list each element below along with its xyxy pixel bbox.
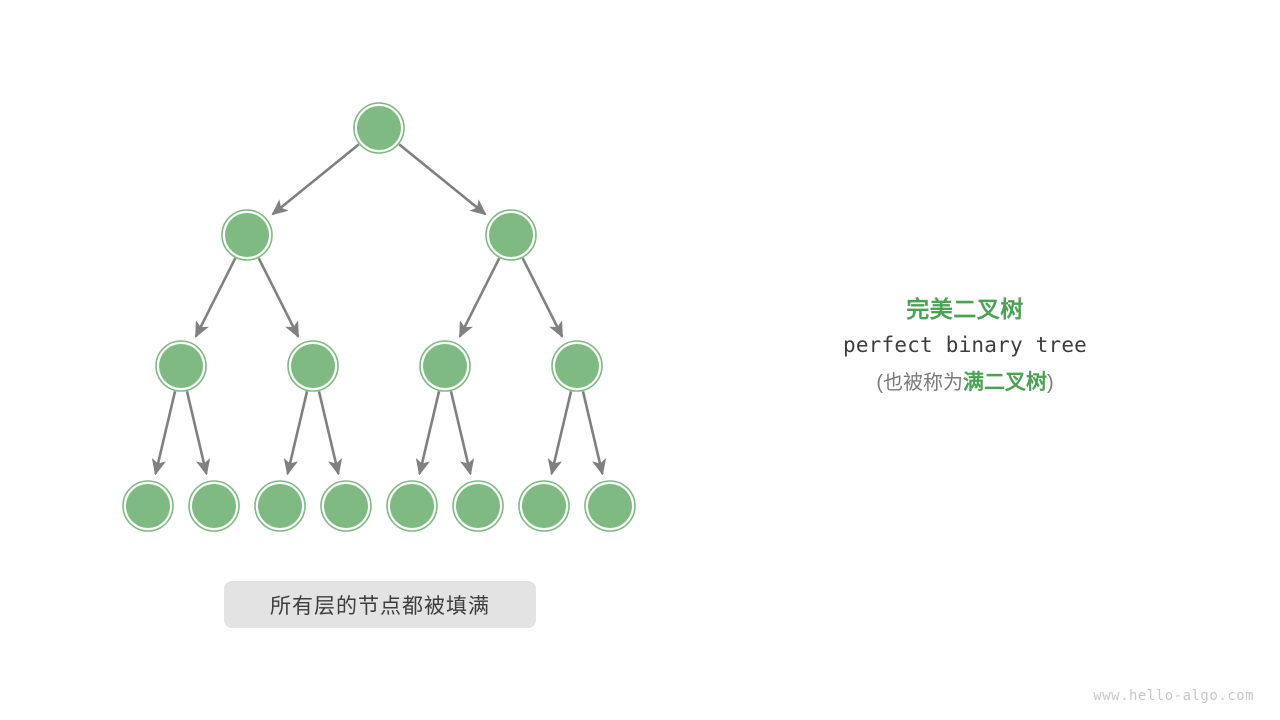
tree-node <box>288 341 338 391</box>
tree-edge <box>196 258 235 336</box>
tree-node <box>354 103 404 153</box>
tree-node-circle <box>192 484 236 528</box>
tree-node <box>552 341 602 391</box>
tree-node <box>222 210 272 260</box>
tree-node <box>156 341 206 391</box>
tree-edge <box>451 391 470 474</box>
tree-node <box>420 341 470 391</box>
tree-node <box>189 481 239 531</box>
tree-edge <box>259 258 298 336</box>
tree-node <box>486 210 536 260</box>
legend-subtitle: perfect binary tree <box>800 326 1130 364</box>
tree-node-circle <box>555 344 599 388</box>
tree-node <box>321 481 371 531</box>
tree-edge <box>187 391 206 474</box>
tree-node-layer <box>123 103 635 531</box>
legend-alias-suffix: ) <box>1047 372 1054 394</box>
tree-edge <box>583 391 602 474</box>
tree-edge <box>319 391 338 474</box>
tree-node-circle <box>357 106 401 150</box>
tree-edge <box>288 391 307 474</box>
tree-node-circle <box>291 344 335 388</box>
tree-node <box>585 481 635 531</box>
tree-edge <box>523 258 562 336</box>
caption-text: 所有层的节点都被填满 <box>270 590 490 620</box>
tree-node-circle <box>456 484 500 528</box>
tree-node-circle <box>159 344 203 388</box>
legend-alias-accent: 满二叉树 <box>963 371 1047 394</box>
tree-node-circle <box>423 344 467 388</box>
tree-node-circle <box>258 484 302 528</box>
tree-node-circle <box>588 484 632 528</box>
tree-edge <box>420 391 439 474</box>
watermark: www.hello-algo.com <box>1093 688 1254 704</box>
tree-edge <box>460 258 499 336</box>
tree-edge <box>552 391 571 474</box>
legend-title: 完美二叉树 <box>800 292 1130 326</box>
tree-node <box>453 481 503 531</box>
tree-edge <box>156 391 175 474</box>
tree-node-circle <box>126 484 170 528</box>
legend-block: 完美二叉树 perfect binary tree (也被称为满二叉树) <box>800 292 1130 402</box>
legend-alias: (也被称为满二叉树) <box>800 364 1130 402</box>
tree-edge <box>273 144 359 214</box>
tree-node-circle <box>489 213 533 257</box>
tree-edge <box>399 144 485 214</box>
tree-node-circle <box>324 484 368 528</box>
tree-node <box>387 481 437 531</box>
tree-node <box>519 481 569 531</box>
tree-node-circle <box>225 213 269 257</box>
caption-pill: 所有层的节点都被填满 <box>224 581 536 628</box>
tree-node <box>123 481 173 531</box>
tree-node <box>255 481 305 531</box>
legend-alias-prefix: (也被称为 <box>876 372 963 394</box>
tree-node-circle <box>522 484 566 528</box>
tree-node-circle <box>390 484 434 528</box>
tree-edge-layer <box>156 144 603 474</box>
